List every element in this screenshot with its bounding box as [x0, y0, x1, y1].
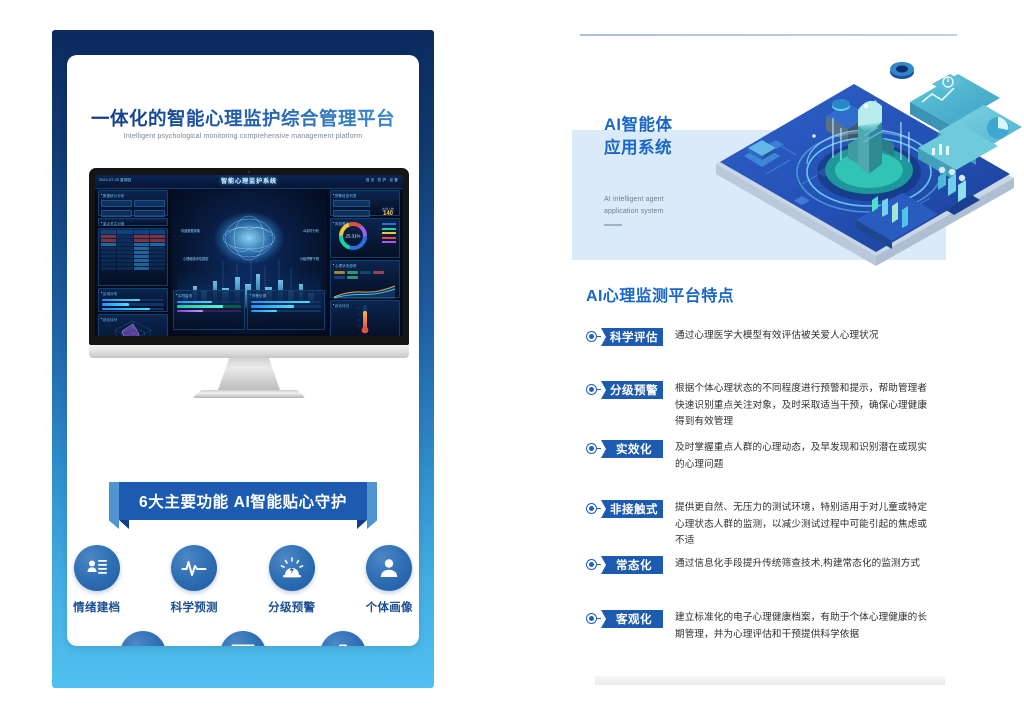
hero-section: AI智能体 应用系统 AI intelligent agent applicat… [560, 52, 1024, 278]
bullet-icon [586, 384, 597, 395]
dashboard-panel-center-left: 实时监测 [173, 290, 245, 330]
table-row [101, 251, 165, 254]
dashboard-screen: 2024.07.25 星期四 智能心理监护系统 首页 防护 设置 数据统计分析 … [95, 175, 403, 336]
org-hierarchy-icon [320, 631, 366, 646]
dashboard-panel-table [98, 228, 168, 286]
feature-icon-grid: 情绪建档 科学预测 [67, 545, 419, 646]
ribbon-fold-right [357, 520, 367, 529]
ribbon-fold-left [119, 520, 129, 529]
left-white-card: 一体化的智能心理监护综合管理平台 Intelligent psychologic… [67, 55, 419, 646]
monitor-bezel: 2024.07.25 星期四 智能心理监护系统 首页 防护 设置 数据统计分析 … [89, 168, 409, 345]
table-header-cell [134, 230, 149, 234]
dashboard-nav: 首页 防护 设置 [366, 178, 399, 183]
table-row [101, 255, 165, 258]
table-header-cell [101, 230, 116, 234]
bullet-icon [586, 559, 597, 570]
person-avatar-icon [366, 545, 412, 591]
hero-title-line2: 应用系统 [604, 137, 673, 160]
feature-description: 建立标准化的电子心理健康档案，有助于个体心理健康的长期管理，并为心理评估和干预提… [675, 610, 929, 643]
feature-tag[interactable]: 分级预警 [601, 381, 663, 399]
feature-row-6: 客观化 建立标准化的电子心理健康档案，有助于个体心理健康的长期管理，并为心理评估… [586, 610, 929, 643]
ribbon-tail-left [109, 482, 119, 529]
table-header-cell [150, 230, 165, 234]
donut-chart: 25.31% [337, 220, 369, 252]
left-poster-panel: 一体化的智能心理监护综合管理平台 Intelligent psychologic… [52, 30, 434, 688]
vertical-gauge [345, 303, 385, 335]
dashboard-panel-progress: 重点关注对象 [98, 218, 168, 226]
progress-bar [177, 310, 241, 313]
panel-title: 实时监测 [174, 291, 244, 299]
monitor-stand-base [192, 390, 306, 398]
dashboard-center-visual: 情绪数据采集 AI实时分析 心理健康评估模型 分级预警干预 [171, 190, 327, 334]
bullet-connector [597, 618, 601, 619]
right-content-panel: AI智能体 应用系统 AI intelligent agent applicat… [560, 0, 1024, 724]
icon-row-2: AI AI快筛 可视化报 [67, 631, 419, 646]
hero-subtitle-line2: application system [604, 206, 664, 218]
features-section-title: AI心理监测平台特点 [586, 282, 734, 306]
feature-tag[interactable]: 常态化 [601, 556, 663, 574]
webcam-icon [248, 171, 250, 173]
feature-tag[interactable]: 非接触式 [601, 500, 663, 518]
table-row [101, 235, 165, 238]
hero-subtitle-line1: AI intelligent agent [604, 194, 664, 206]
feature-description: 通过信息化手段提升传统筛查技术,构建常态化的监测方式 [675, 556, 920, 573]
feature-tag[interactable]: 实效化 [601, 440, 663, 458]
progress-bar [102, 299, 164, 302]
feature-row-5: 常态化 通过信息化手段提升传统筛查技术,构建常态化的监测方式 [586, 556, 920, 574]
feature-row-2: 分级预警 根据个体心理状态的不同程度进行预警和提示，帮助管理者快速识别重点关注对… [586, 381, 929, 431]
presentation-chart-icon [220, 631, 266, 646]
panel-title: 数据统计分析 [99, 191, 167, 199]
table-row [101, 267, 165, 270]
feature-item-ai-screening[interactable]: AI AI快筛 [112, 631, 174, 646]
feature-item-personalized-report[interactable]: 个性化报告 [312, 631, 374, 646]
mini-stat [101, 210, 132, 217]
hero-title: AI智能体 应用系统 [604, 114, 673, 161]
pulse-wave-icon [171, 545, 217, 591]
dashboard-panel-donut: 风险等级占比 25.31% [330, 218, 400, 258]
bullet-icon [586, 443, 597, 454]
feature-label: 分级预警 [262, 599, 322, 615]
data-table [99, 229, 167, 272]
table-row [101, 259, 165, 262]
progress-bar [251, 305, 321, 308]
feature-item-emotion-archive[interactable]: 情绪建档 [67, 545, 127, 615]
feature-banner: 6大主要功能 AI智能贴心守护 [119, 482, 367, 520]
radar-chart [106, 318, 160, 336]
bottom-divider [595, 676, 945, 685]
feature-label: 个体画像 [360, 599, 420, 615]
progress-bar [177, 305, 241, 308]
dashboard-panel-bars: 区域分布 [98, 288, 168, 312]
alarm-siren-icon [269, 545, 315, 591]
panel-title: 心理状态趋势 [331, 261, 399, 269]
bullet-connector [597, 389, 601, 390]
dashboard-panel-spark: 心理状态趋势 [330, 260, 400, 298]
monitor-chin [89, 345, 409, 358]
center-annotation: AI实时分析 [303, 228, 319, 233]
panel-title: 区域分布 [99, 289, 167, 297]
mini-stat [134, 210, 165, 217]
dashboard-header: 2024.07.25 星期四 智能心理监护系统 首页 防护 设置 [95, 175, 403, 189]
feature-row-3: 实效化 及时掌握重点人群的心理动态，及早发现和识别潜在或现实的心理问题 [586, 440, 929, 473]
dashboard-right-column: 预警信息列表 在线人数 140 风险等级占比 [330, 190, 400, 334]
center-annotation: 情绪数据采集 [181, 228, 200, 233]
table-row [101, 263, 165, 266]
center-annotation: 分级预警干预 [300, 256, 319, 261]
panel-title: 预警信息列表 [331, 191, 399, 199]
table-row [101, 239, 165, 242]
progress-bar [102, 308, 164, 311]
icon-row-1: 情绪建档 科学预测 [67, 545, 419, 615]
feature-label: 情绪建档 [67, 599, 127, 615]
sparkline-chart [332, 282, 398, 300]
feature-item-grade-alert[interactable]: 分级预警 [262, 545, 322, 615]
feature-row-1: 科学评估 通过心理医学大模型有效评估被关爱人心理状况 [586, 328, 879, 346]
bullet-connector [597, 448, 601, 449]
page-subtitle: Intelligent psychological monitoring com… [67, 133, 419, 140]
monitor-mockup: 2024.07.25 星期四 智能心理监护系统 首页 防护 设置 数据统计分析 … [89, 168, 409, 398]
feature-description: 通过心理医学大模型有效评估被关爱人心理状况 [675, 328, 879, 345]
kpi-block: 在线人数 140 [382, 207, 394, 217]
bullet-icon [586, 331, 597, 342]
dashboard-panel-center-right: 预警处置 [247, 290, 325, 330]
donut-legend [382, 223, 396, 246]
bullet-connector [597, 336, 601, 337]
feature-tag[interactable]: 客观化 [601, 610, 663, 628]
top-divider [580, 34, 957, 36]
progress-bar [102, 303, 164, 306]
svg-text:25.31%: 25.31% [346, 234, 361, 239]
table-row [101, 247, 165, 250]
mini-stat [101, 200, 132, 207]
feature-description: 及时掌握重点人群的心理动态，及早发现和识别潜在或现实的心理问题 [675, 440, 929, 473]
dashboard-panel-filters: 数据统计分析 [98, 190, 168, 216]
feature-banner-wrap: 6大主要功能 AI智能贴心守护 [67, 482, 419, 528]
mini-stat [134, 200, 165, 207]
bullet-connector [597, 508, 601, 509]
ribbon-tail-right [367, 482, 377, 529]
feature-item-individual-profile[interactable]: 个体画像 [360, 545, 420, 615]
hero-subtitle: AI intelligent agent application system [604, 194, 664, 217]
dashboard-left-column: 数据统计分析 重点关注对象 [98, 190, 168, 334]
kpi-value: 140 [382, 211, 394, 217]
bullet-icon [586, 503, 597, 514]
feature-label: 科学预测 [165, 599, 225, 615]
isometric-ai-platform-illustration [706, 44, 1024, 274]
hero-title-line1: AI智能体 [604, 114, 673, 137]
table-row [101, 243, 165, 246]
dashboard-panel-gauge: 综合评分 [330, 300, 400, 336]
dashboard-title: 智能心理监护系统 [221, 176, 277, 185]
dashboard-datetime: 2024.07.25 星期四 [99, 178, 132, 183]
panel-title: 重点关注对象 [99, 219, 167, 227]
table-header-cell [117, 230, 132, 234]
bullet-connector [597, 564, 601, 565]
ai-text-icon: AI [120, 631, 166, 646]
progress-bar [251, 301, 321, 304]
feature-item-visual-report[interactable]: 可视化报告 [212, 631, 274, 646]
profile-card-icon [74, 545, 120, 591]
center-annotation: 心理健康评估模型 [183, 256, 209, 261]
feature-row-4: 非接触式 提供更自然、无压力的测试环境，特别适用于对儿童或特定心理状态人群的监测… [586, 500, 929, 550]
page-title: 一体化的智能心理监护综合管理平台 [67, 105, 419, 131]
monitor-stand-neck [218, 358, 280, 390]
bullet-icon [586, 613, 597, 624]
feature-description: 根据个体心理状态的不同程度进行预警和提示，帮助管理者快速识别重点关注对象，及时采… [675, 381, 929, 431]
dashboard-panel-radar: 综合评分 [98, 314, 168, 336]
legend-chips [331, 269, 399, 281]
dashboard-panel-kpi: 预警信息列表 在线人数 140 [330, 190, 400, 216]
feature-item-science-prediction[interactable]: 科学预测 [165, 545, 225, 615]
progress-bar [251, 310, 321, 313]
progress-bar [177, 301, 241, 304]
feature-description: 提供更自然、无压力的测试环境，特别适用于对儿童或特定心理状态人群的监测，以减少测… [675, 500, 929, 550]
feature-tag[interactable]: 科学评估 [601, 328, 663, 346]
panel-title: 预警处置 [248, 291, 324, 299]
hero-underline [604, 224, 622, 226]
